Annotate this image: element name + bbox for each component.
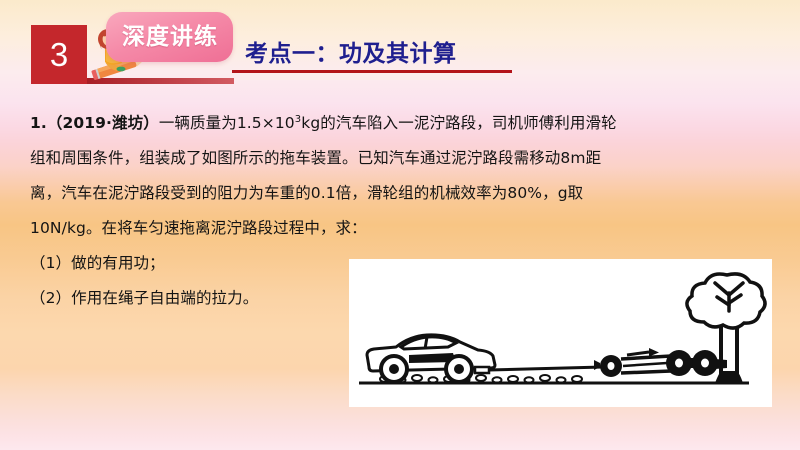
page-title: 考点一：功及其计算 [245,40,457,69]
car-illustration [367,335,495,382]
slide-root: 3 [0,0,800,450]
pulley-system [594,348,727,377]
slide-header: 3 [0,0,800,92]
question-source-label: 1.（2019·潍坊） [30,114,159,132]
figure-panel [349,259,772,407]
section-number-badge: 3 [31,25,87,84]
question-line-2: 组和周围条件，组装成了如图所示的拖车装置。已知汽车通过泥泞路段需移动8m距 [30,141,770,176]
question-line-4: 10N/kg。在将车匀速拖离泥泞路段过程中，求： [30,211,770,246]
deep-lecture-pill-label: 深度讲练 [122,20,232,54]
title-underline [232,70,512,73]
tow-truck-pulley-diagram [349,259,772,407]
question-line-1-a: 一辆质量为1.5×10 [159,114,295,132]
question-line-1: 1.（2019·潍坊）一辆质量为1.5×103kg的汽车陷入一泥泞路段，司机师傅… [30,106,770,141]
tow-rope [489,367,603,370]
question-line-3: 离，汽车在泥泞路段受到的阻力为车重的0.1倍，滑轮组的机械效率为80%，g取 [30,176,770,211]
question-line-1-b: kg的汽车陷入一泥泞路段，司机师傅利用滑轮 [301,114,616,132]
